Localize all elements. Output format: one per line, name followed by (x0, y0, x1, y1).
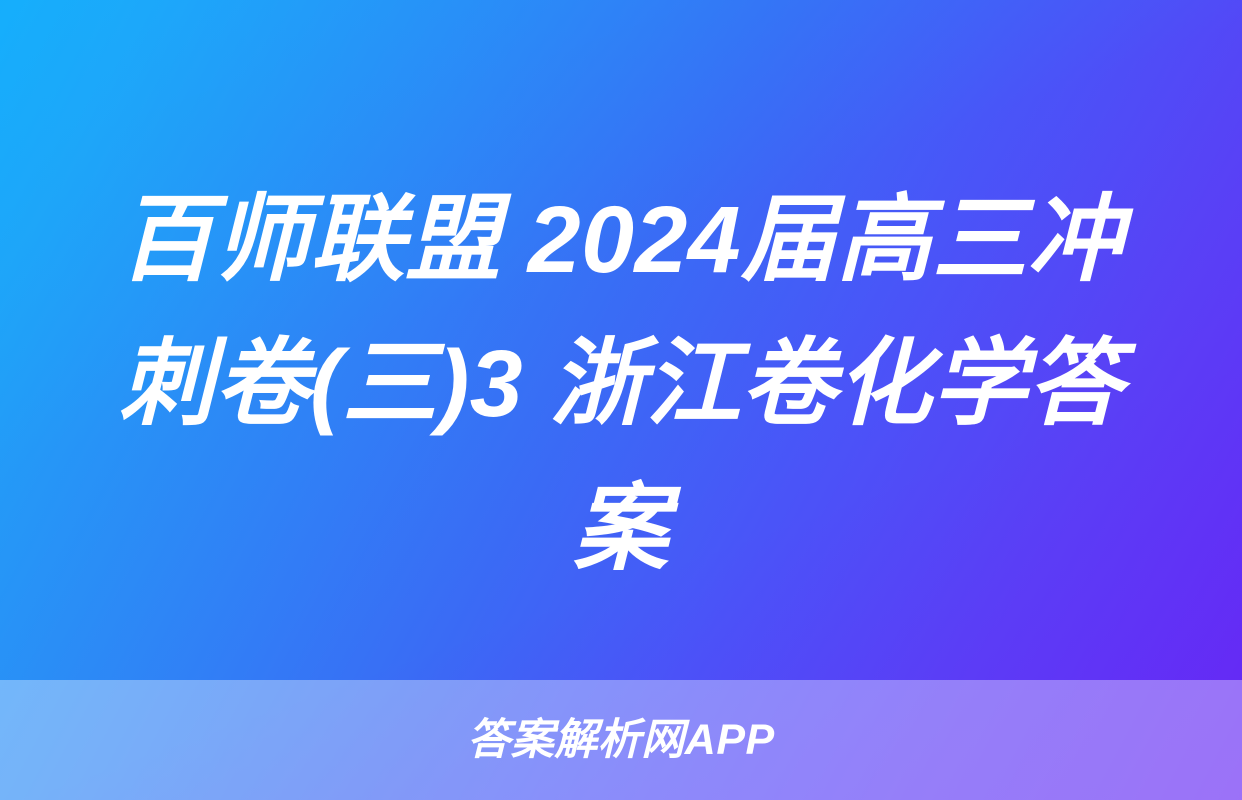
footer-brand-label: 答案解析网APP (467, 719, 774, 762)
page-title: 百师联盟 2024届高三冲刺卷(三)3 浙江卷化学答案 (0, 168, 1242, 601)
poster-canvas: 百师联盟 2024届高三冲刺卷(三)3 浙江卷化学答案 答案解析网APP (0, 0, 1242, 800)
footer-brand-bar: 答案解析网APP (0, 680, 1242, 800)
